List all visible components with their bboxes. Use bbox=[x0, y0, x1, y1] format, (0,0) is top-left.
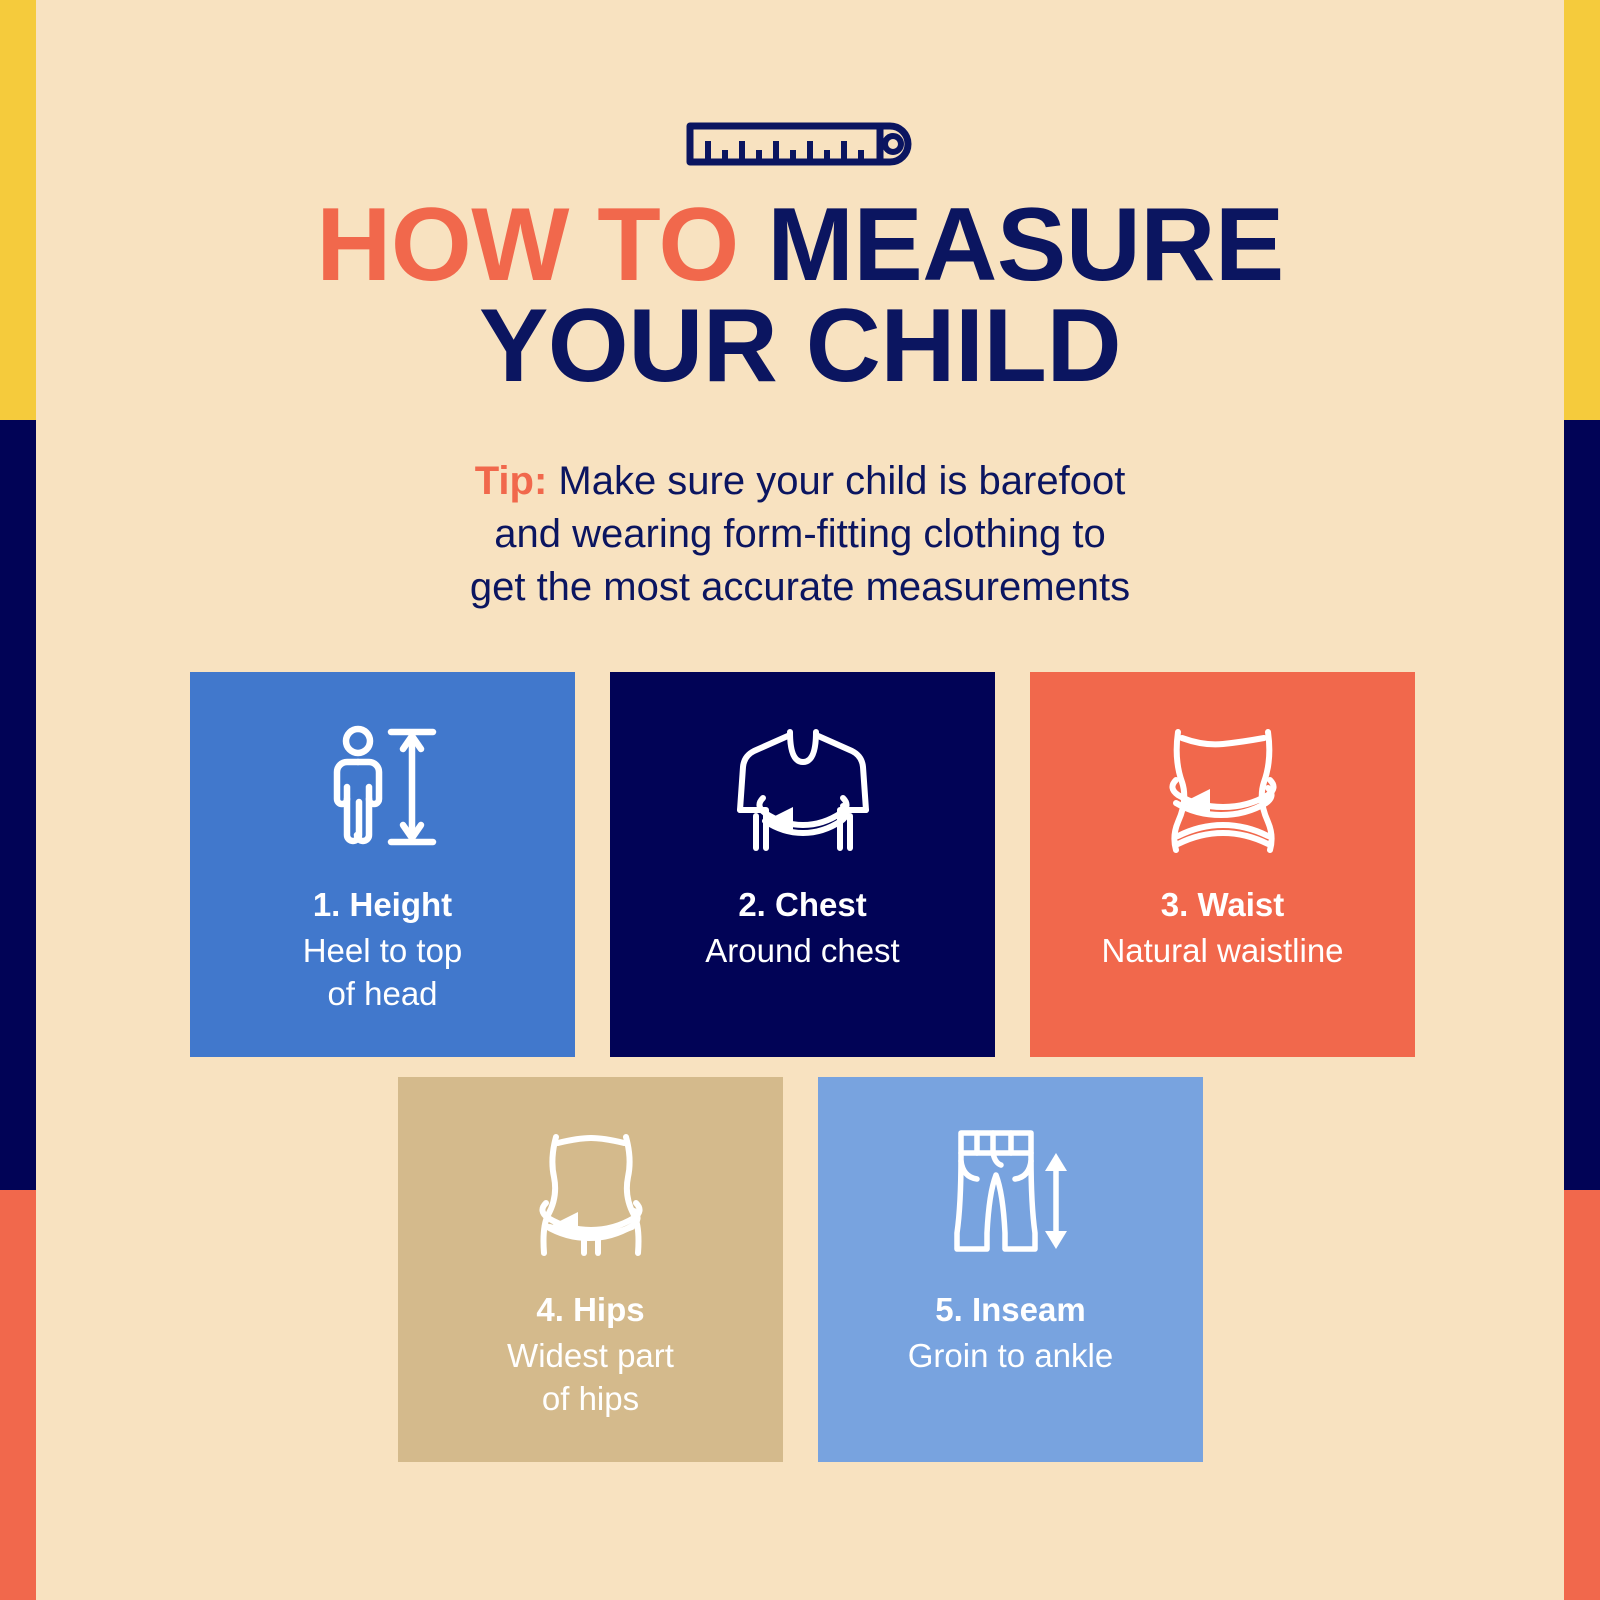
card-inseam-title: 5. Inseam bbox=[908, 1289, 1113, 1332]
measurement-card-inseam[interactable]: 5. Inseam Groin to ankle bbox=[818, 1077, 1203, 1462]
tip-line-2: and wearing form-fitting clothing to bbox=[36, 508, 1564, 561]
page-title: HOW TO MEASURE YOUR CHILD bbox=[36, 195, 1564, 397]
page-title-line-1: HOW TO MEASURE bbox=[36, 195, 1564, 296]
card-waist-desc-1: Natural waistline bbox=[1101, 930, 1343, 973]
tip-line-1: Tip: Make sure your child is barefoot bbox=[36, 455, 1564, 508]
measurement-card-height[interactable]: 1. Height Heel to top of head bbox=[190, 672, 575, 1057]
tip-label: Tip: bbox=[475, 459, 548, 503]
measurement-card-chest[interactable]: 2. Chest Around chest bbox=[610, 672, 995, 1057]
standing-person-height-icon bbox=[325, 724, 441, 856]
card-height-title: 1. Height bbox=[303, 884, 463, 927]
hips-tape-icon bbox=[530, 1129, 652, 1261]
tip-paragraph: Tip: Make sure your child is barefoot an… bbox=[36, 455, 1564, 613]
card-chest-text: 2. Chest Around chest bbox=[691, 884, 913, 973]
card-inseam-icon-wrap bbox=[949, 1125, 1073, 1265]
card-hips-desc-1: Widest part bbox=[507, 1335, 674, 1378]
pants-inseam-icon bbox=[949, 1127, 1073, 1263]
card-hips-title: 4. Hips bbox=[507, 1289, 674, 1332]
left-edge-stripe bbox=[0, 0, 36, 1600]
measurement-card-waist[interactable]: 3. Waist Natural waistline bbox=[1030, 672, 1415, 1057]
card-height-desc-1: Heel to top bbox=[303, 930, 463, 973]
card-chest-icon-wrap bbox=[732, 720, 874, 860]
card-chest-title: 2. Chest bbox=[705, 884, 899, 927]
page-title-line-2: YOUR CHILD bbox=[36, 296, 1564, 397]
left-stripe-orange-band bbox=[0, 1190, 36, 1600]
card-hips-text: 4. Hips Widest part of hips bbox=[493, 1289, 688, 1421]
measurement-card-row-bottom: 4. Hips Widest part of hips bbox=[398, 1077, 1203, 1462]
page-title-rest: MEASURE bbox=[767, 187, 1284, 303]
card-inseam-desc-1: Groin to ankle bbox=[908, 1335, 1113, 1378]
card-height-icon-wrap bbox=[325, 720, 441, 860]
card-hips-icon-wrap bbox=[530, 1125, 652, 1265]
tip-line-1-text: Make sure your child is barefoot bbox=[547, 459, 1125, 503]
torso-chest-tape-icon bbox=[732, 726, 874, 854]
card-height-desc-2: of head bbox=[303, 973, 463, 1016]
card-chest-desc-1: Around chest bbox=[705, 930, 899, 973]
right-stripe-yellow-band bbox=[1564, 0, 1600, 420]
measurement-card-row-top: 1. Height Heel to top of head bbox=[190, 672, 1415, 1057]
left-stripe-navy-band bbox=[0, 420, 36, 1190]
card-waist-title: 3. Waist bbox=[1101, 884, 1343, 927]
card-inseam-text: 5. Inseam Groin to ankle bbox=[894, 1289, 1127, 1378]
card-waist-icon-wrap bbox=[1162, 720, 1284, 860]
ruler-icon-container bbox=[36, 118, 1564, 170]
card-waist-text: 3. Waist Natural waistline bbox=[1087, 884, 1357, 973]
page-title-accent: HOW TO bbox=[316, 187, 767, 303]
right-stripe-navy-band bbox=[1564, 420, 1600, 1190]
right-stripe-orange-band bbox=[1564, 1190, 1600, 1600]
ruler-icon bbox=[684, 118, 916, 170]
card-height-text: 1. Height Heel to top of head bbox=[289, 884, 477, 1016]
measurement-card-hips[interactable]: 4. Hips Widest part of hips bbox=[398, 1077, 783, 1462]
infographic-canvas: HOW TO MEASURE YOUR CHILD Tip: Make sure… bbox=[36, 0, 1564, 1600]
card-hips-desc-2: of hips bbox=[507, 1378, 674, 1421]
tip-line-3: get the most accurate measurements bbox=[36, 561, 1564, 614]
left-stripe-yellow-band bbox=[0, 0, 36, 420]
right-edge-stripe bbox=[1564, 0, 1600, 1600]
torso-waist-tape-icon bbox=[1162, 724, 1284, 856]
